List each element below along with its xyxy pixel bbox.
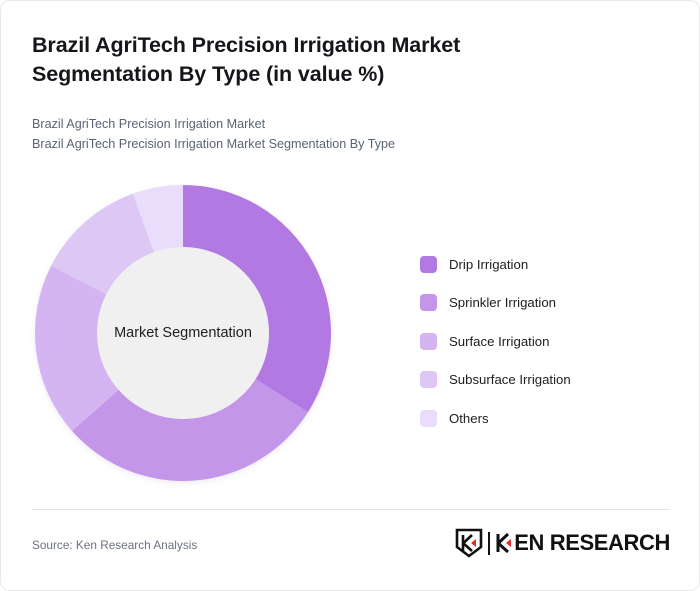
footer-divider xyxy=(32,509,670,510)
legend-item[interactable]: Others xyxy=(420,399,670,438)
legend-item-label: Drip Irrigation xyxy=(449,257,528,272)
source-note: Source: Ken Research Analysis xyxy=(32,538,197,552)
legend-swatch-icon xyxy=(420,256,437,273)
donut-svg xyxy=(33,183,333,483)
subtitle-block: Brazil AgriTech Precision Irrigation Mar… xyxy=(32,114,592,155)
logo-wordmark: EN RESEARCH xyxy=(496,532,670,554)
chart-card: Brazil AgriTech Precision Irrigation Mar… xyxy=(0,0,700,591)
chart-area: Market Segmentation Drip IrrigationSprin… xyxy=(1,161,700,506)
subtitle-market: Brazil AgriTech Precision Irrigation Mar… xyxy=(32,114,592,134)
legend-swatch-icon xyxy=(420,371,437,388)
chart-legend: Drip IrrigationSprinkler IrrigationSurfa… xyxy=(420,245,670,438)
subtitle-segmentation: Brazil AgriTech Precision Irrigation Mar… xyxy=(32,134,592,154)
legend-item[interactable]: Drip Irrigation xyxy=(420,245,670,284)
legend-item-label: Subsurface Irrigation xyxy=(449,372,571,387)
legend-item[interactable]: Sprinkler Irrigation xyxy=(420,284,670,323)
page-title: Brazil AgriTech Precision Irrigation Mar… xyxy=(32,31,572,88)
logo-text-label: EN RESEARCH xyxy=(514,532,670,554)
legend-item-label: Others xyxy=(449,411,489,426)
donut-chart: Market Segmentation xyxy=(33,183,333,483)
legend-item[interactable]: Surface Irrigation xyxy=(420,322,670,361)
legend-swatch-icon xyxy=(420,294,437,311)
logo-separator-bar xyxy=(488,532,490,555)
legend-item-label: Surface Irrigation xyxy=(449,334,549,349)
legend-swatch-icon xyxy=(420,410,437,427)
legend-swatch-icon xyxy=(420,333,437,350)
legend-item-label: Sprinkler Irrigation xyxy=(449,295,556,310)
ken-research-logo: EN RESEARCH xyxy=(455,526,670,560)
logo-k-icon xyxy=(496,532,513,554)
donut-center-hole xyxy=(97,247,269,419)
legend-item[interactable]: Subsurface Irrigation xyxy=(420,361,670,400)
ken-research-shield-icon xyxy=(455,528,483,558)
